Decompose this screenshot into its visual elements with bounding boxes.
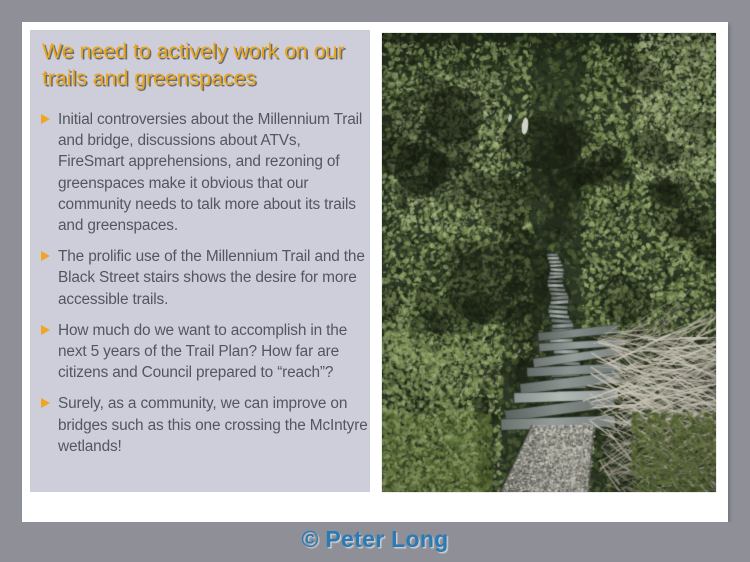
list-item-text: Initial controversies about the Millenni…	[58, 111, 362, 234]
list-item-text: The prolific use of the Millennium Trail…	[58, 248, 365, 307]
list-item: Surely, as a community, we can improve o…	[36, 393, 370, 457]
slide-viewer: We need to actively work on our trails a…	[0, 0, 750, 562]
triangle-arrow-bullet-icon	[41, 325, 50, 335]
bullet-list: Initial controversies about the Millenni…	[36, 109, 370, 467]
list-item: How much do we want to accomplish in the…	[36, 320, 370, 384]
footer-bar: © Peter Long	[0, 522, 750, 562]
text-content-panel: We need to actively work on our trails a…	[30, 30, 370, 492]
triangle-arrow-bullet-icon	[41, 251, 50, 261]
list-item: Initial controversies about the Millenni…	[36, 109, 370, 236]
trail-boardwalk-photo-canvas	[382, 33, 716, 492]
list-item-text: How much do we want to accomplish in the…	[58, 322, 347, 381]
list-item-text: Surely, as a community, we can improve o…	[58, 395, 368, 454]
slide-card: We need to actively work on our trails a…	[22, 22, 728, 522]
triangle-arrow-bullet-icon	[41, 114, 50, 124]
copyright-text: © Peter Long	[0, 526, 750, 553]
triangle-arrow-bullet-icon	[41, 398, 50, 408]
page-title: We need to actively work on our trails a…	[42, 38, 362, 92]
list-item: The prolific use of the Millennium Trail…	[36, 246, 370, 310]
trail-boardwalk-photo	[382, 33, 716, 492]
